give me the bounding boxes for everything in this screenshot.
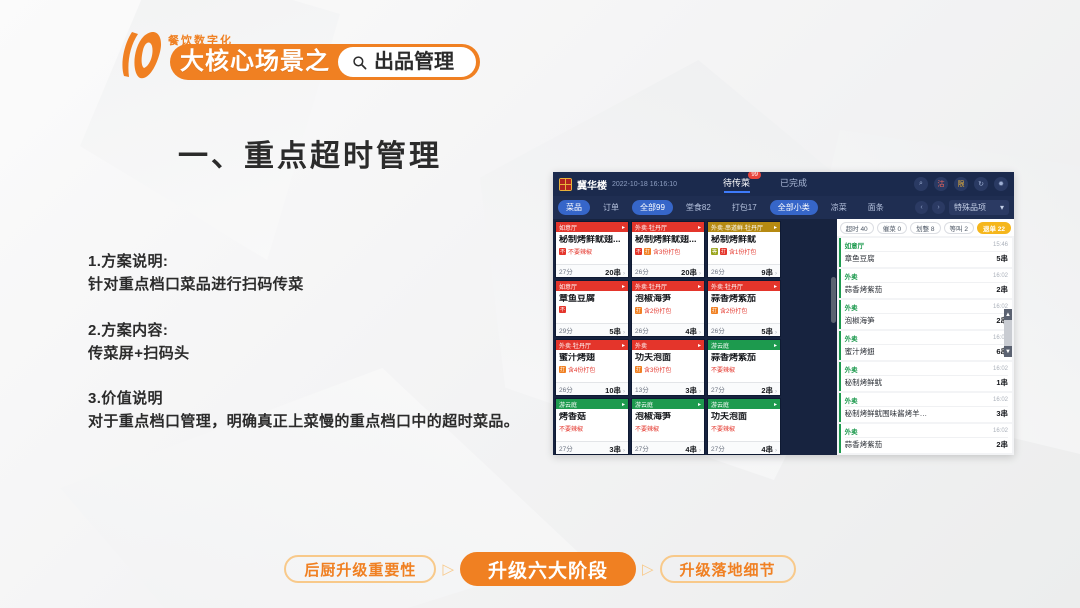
dish-card-elapsed: 26分 (635, 266, 649, 276)
dish-card[interactable]: 游云庭▸泡椒海笋不要辣椒27分4串› (631, 398, 705, 455)
order-row-bottom: 秘制烤鲜鱿1串 (845, 375, 1008, 388)
scroll-up-icon[interactable]: ▲ (1004, 309, 1012, 320)
dish-card-location: 外卖▸ (632, 340, 704, 350)
dish-card-elapsed: 27分 (559, 266, 573, 276)
order-quantity: 3串 (996, 408, 1008, 419)
dish-card-expand-icon[interactable]: ▸ (774, 283, 777, 290)
dish-card[interactable]: 外卖▸功夫泡面打含3份打包13分3串› (631, 339, 705, 396)
side-scrollbar[interactable]: ▲ ▼ (1004, 309, 1012, 357)
dish-card-location: 游云庭▸ (632, 399, 704, 409)
order-row[interactable]: 外卖16:02秘制烤鲜鱿1串 (839, 362, 1012, 391)
dish-card-expand-icon[interactable]: ▸ (774, 401, 777, 408)
dish-card-elapsed: 26分 (635, 325, 649, 335)
order-row-bottom: 泡椒海笋2串 (845, 313, 1008, 326)
dish-card-expand-icon[interactable]: ▸ (698, 283, 701, 290)
dish-card-expand-icon[interactable]: ▸ (622, 342, 625, 349)
order-row-bottom: 蒜香烤紫茄2串 (845, 282, 1008, 295)
dish-card-more-icon[interactable]: › (699, 389, 701, 395)
dish-card-more-icon[interactable]: › (775, 271, 777, 277)
pager-prev-icon[interactable]: ‹ (915, 201, 928, 214)
dish-card-expand-icon[interactable]: ▸ (774, 224, 777, 231)
copy-head: 2.方案内容: (88, 319, 528, 342)
dish-card-location: 游云庭▸ (708, 340, 780, 350)
dish-card-tags: 不打含3份打包 (635, 247, 701, 256)
logo-10-icon (110, 28, 168, 80)
dish-tag-icon: 等 (711, 248, 718, 255)
order-location: 外卖 (845, 333, 858, 343)
dish-card-more-icon[interactable]: › (699, 330, 701, 336)
dish-card-location-label: 如意厅 (559, 282, 577, 291)
dish-card-location: 外卖·串道鲜·牡丹厅▸ (708, 222, 780, 232)
dish-card-footer: 27分4串› (708, 441, 780, 454)
dish-card-tags: 打含2份打包 (635, 306, 701, 315)
order-row[interactable]: 外卖16:02秘制烤鲜鱿围味酱烤羊肉串3串 (839, 393, 1012, 422)
dish-tag-text: 不要辣椒 (568, 247, 592, 256)
order-dish-name: 泡椒海笋 (845, 315, 875, 326)
dish-card-name: 蒜香烤紫茄 (711, 353, 777, 363)
search-icon (352, 55, 367, 70)
dish-card-elapsed: 27分 (711, 443, 725, 453)
dish-card-expand-icon[interactable]: ▸ (698, 401, 701, 408)
dish-tag-icon: 打 (559, 366, 566, 373)
dish-card-quantity: 10串 (605, 386, 621, 395)
order-row-top: 外卖16:02 (845, 302, 1008, 312)
order-row-top: 外卖16:02 (845, 395, 1008, 405)
scroll-track[interactable] (1004, 320, 1012, 346)
dish-card-name: 烤香菇 (559, 412, 625, 422)
order-dish-name: 蜜汁烤翅 (845, 346, 875, 357)
dish-card-location-label: 外卖 (635, 341, 647, 350)
dish-card-quantity: 3串 (609, 445, 621, 454)
order-time: 15:46 (993, 242, 1008, 248)
pos-filter-dinein[interactable]: 堂食82 (678, 200, 719, 215)
dish-card-body: 蜜汁烤翅打含4份打包 (556, 350, 628, 382)
dish-card-more-icon[interactable]: › (699, 271, 701, 277)
dish-tag-icon: 打 (635, 307, 642, 314)
dish-card-more-icon[interactable]: › (623, 448, 625, 454)
nav-item-importance[interactable]: 后厨升级重要性 (284, 555, 436, 583)
dish-card-more-icon[interactable]: › (775, 389, 777, 395)
pos-side-filter-chips: 超时 40催菜 0划整 8等叫 2退单 22 (837, 219, 1014, 236)
dish-card-expand-icon[interactable]: ▸ (622, 224, 625, 231)
dish-card-elapsed: 27分 (559, 443, 573, 453)
dish-card-footer: 26分9串› (708, 264, 780, 277)
dish-tag-text: 含2份打包 (720, 306, 747, 315)
dish-card-tags: 不不要辣椒 (559, 247, 625, 256)
dish-card-location-label: 游云庭 (635, 400, 653, 409)
dish-card-elapsed: 26分 (559, 384, 573, 394)
dish-card-name: 秘制烤鲜鱿翅... (635, 235, 701, 245)
header-search-pill[interactable]: 出品管理 (338, 47, 476, 77)
dish-card-location: 游云庭▸ (708, 399, 780, 409)
pos-dish-grid: 如意厅▸秘制烤鲜鱿翅...不不要辣椒27分20串›外卖·牡丹厅▸秘制烤鲜鱿翅..… (553, 219, 837, 455)
dish-card-tags: 打含3份打包 (635, 365, 701, 374)
pos-side-panel: 超时 40催菜 0划整 8等叫 2退单 22 如意厅15:46章鱼豆腐5串外卖1… (837, 219, 1014, 455)
dish-card-location-label: 外卖·牡丹厅 (711, 282, 743, 291)
dish-card-tags: 不要辣椒 (711, 424, 777, 433)
dish-card-quantity: 20串 (681, 268, 697, 277)
pos-tab-pending-badge: 99 (748, 172, 761, 179)
dish-card[interactable]: 游云庭▸功夫泡面不要辣椒27分4串› (707, 398, 781, 455)
pos-special-items-value: 特殊品项 (954, 202, 986, 213)
dish-card-footer: 26分10串› (556, 382, 628, 395)
order-time: 16:02 (993, 428, 1008, 434)
order-row-bottom: 章鱼豆腐5串 (845, 251, 1008, 264)
pos-topbar: 冀华楼 2022-10-18 16:16:10 待传菜 99 已完成 ⌕ 沽 限… (553, 172, 1014, 196)
dish-card-name: 秘制烤鲜鱿翅... (559, 235, 625, 245)
dish-card-body: 功夫泡面不要辣椒 (708, 409, 780, 441)
dish-card-tags: 不要辣椒 (711, 365, 777, 374)
dish-card-name: 章鱼豆腐 (559, 294, 625, 304)
order-time: 16:02 (993, 273, 1008, 279)
dish-tag-icon: 不 (559, 306, 566, 313)
copy-body: 传菜屏+扫码头 (88, 342, 528, 365)
dish-card[interactable]: 外卖·牡丹厅▸蜜汁烤翅打含4份打包26分10串› (555, 339, 629, 396)
dish-card-elapsed: 26分 (711, 266, 725, 276)
pos-store-name: 冀华楼 (577, 177, 607, 192)
pos-filter-all[interactable]: 全部99 (632, 200, 673, 215)
order-row[interactable]: 外卖16:02蜜汁烤翅6串 (839, 331, 1012, 360)
order-quantity: 2串 (996, 439, 1008, 450)
order-location: 外卖 (845, 426, 858, 436)
dish-card-tags: 打含2份打包 (711, 306, 777, 315)
dish-card-tags: 打含4份打包 (559, 365, 625, 374)
pos-filter-noodles[interactable]: 面条 (860, 200, 892, 215)
order-row-top: 如意厅15:46 (845, 240, 1008, 250)
content-copy: 1.方案说明: 针对重点档口菜品进行扫码传菜 2.方案内容: 传菜屏+扫码头 3… (88, 250, 528, 456)
order-row-bottom: 秘制烤鲜鱿围味酱烤羊肉串3串 (845, 406, 1008, 419)
dish-card-body: 秘制烤鲜鱿翅...不不要辣椒 (556, 232, 628, 264)
header-main-text: 大核心场景之 (180, 50, 330, 74)
order-dish-name: 秘制烤鲜鱿 (845, 377, 883, 388)
dish-card-name: 蒜香烤紫茄 (711, 294, 777, 304)
dish-card-footer: 26分4串› (632, 323, 704, 336)
dish-card-expand-icon[interactable]: ▸ (622, 401, 625, 408)
pos-filter-takeout[interactable]: 打包17 (724, 200, 765, 215)
nav-item-details[interactable]: 升级落地细节 (660, 555, 796, 583)
dish-card-more-icon[interactable]: › (699, 448, 701, 454)
dish-card-location-label: 游云庭 (711, 400, 729, 409)
dish-tag-icon: 打 (720, 248, 727, 255)
dish-card-location-label: 游云庭 (559, 400, 577, 409)
order-quantity: 1串 (996, 377, 1008, 388)
dish-card-footer: 13分3串› (632, 382, 704, 395)
order-row-bottom: 蒜香烤紫茄2串 (845, 437, 1008, 450)
dish-card-footer: 29分5串› (556, 323, 628, 336)
dish-card-location-label: 外卖·牡丹厅 (635, 282, 667, 291)
dish-tag-icon: 不 (635, 248, 642, 255)
dish-card-quantity: 9串 (761, 268, 773, 277)
dish-card-footer: 27分3串› (556, 441, 628, 454)
dish-card-expand-icon[interactable]: ▸ (622, 283, 625, 290)
pos-filter-orders[interactable]: 订单 (595, 200, 627, 215)
side-filter-chip[interactable]: 超时 40 (840, 222, 874, 234)
chevron-down-icon: ▾ (1000, 203, 1004, 212)
dish-card-more-icon[interactable]: › (623, 389, 625, 395)
settings-icon[interactable]: ✹ (994, 177, 1008, 191)
dish-card[interactable]: 外卖·牡丹厅▸蒜香烤紫茄打含2份打包26分5串› (707, 280, 781, 337)
dish-card-tags: 不要辣椒 (559, 424, 625, 433)
order-row-top: 外卖16:02 (845, 364, 1008, 374)
dish-card-elapsed: 26分 (711, 325, 725, 335)
dish-card-elapsed: 13分 (635, 384, 649, 394)
dish-card-location: 如意厅▸ (556, 281, 628, 291)
dish-card-more-icon[interactable]: › (775, 330, 777, 336)
pos-datetime: 2022-10-18 16:16:10 (612, 181, 677, 188)
dish-card[interactable]: 外卖·串道鲜·牡丹厅▸秘制烤鲜鱿等打含1份打包26分9串› (707, 221, 781, 278)
dish-card-location: 外卖·牡丹厅▸ (708, 281, 780, 291)
dish-card-location: 外卖·牡丹厅▸ (556, 340, 628, 350)
order-dish-name: 蒜香烤紫茄 (845, 284, 883, 295)
dish-card-body: 功夫泡面打含3份打包 (632, 350, 704, 382)
grid-icon[interactable]: 限 (954, 177, 968, 191)
dish-card-quantity: 4串 (761, 445, 773, 454)
nav-item-six-stages[interactable]: 升级六大阶段 (460, 552, 636, 586)
dish-card-quantity: 2串 (761, 386, 773, 395)
header-badge-bar: 大核心场景之 出品管理 (170, 44, 480, 80)
dish-card-name: 功夫泡面 (711, 412, 777, 422)
dish-card-name: 秘制烤鲜鱿 (711, 235, 777, 245)
order-row[interactable]: 外卖16:02蒜香烤紫茄2串 (839, 424, 1012, 453)
dish-tag-text: 含3份打包 (653, 247, 680, 256)
bottom-navigation: 后厨升级重要性 ▷ 升级六大阶段 ▷ 升级落地细节 (0, 552, 1080, 586)
dish-card-body: 泡椒海笋不要辣椒 (632, 409, 704, 441)
order-row-bottom: 蜜汁烤翅6串 (845, 344, 1008, 357)
dish-card-location-label: 如意厅 (559, 223, 577, 232)
pos-tab-pending[interactable]: 待传菜 99 (723, 176, 750, 192)
order-row[interactable]: 外卖16:02泡椒海笋2串 (839, 300, 1012, 329)
refresh-icon[interactable]: ↻ (974, 177, 988, 191)
dish-card-more-icon[interactable]: › (623, 271, 625, 277)
page-title: 一、重点超时管理 (178, 131, 442, 175)
dish-card-body: 章鱼豆腐不 (556, 291, 628, 323)
order-dish-name: 秘制烤鲜鱿围味酱烤羊肉串 (845, 408, 929, 419)
dish-tag-text: 含3份打包 (644, 365, 671, 374)
order-location: 外卖 (845, 271, 858, 281)
side-filter-chip[interactable]: 催菜 0 (877, 222, 907, 234)
order-quantity: 5串 (996, 253, 1008, 264)
header-badge: 大核心场景之 出品管理 (110, 28, 480, 80)
dish-card-location-label: 外卖·牡丹厅 (635, 223, 667, 232)
order-time: 16:02 (993, 397, 1008, 403)
dish-card-body: 秘制烤鲜鱿等打含1份打包 (708, 232, 780, 264)
dish-tag-icon: 打 (711, 307, 718, 314)
scroll-down-icon[interactable]: ▼ (1004, 346, 1012, 357)
header-subtitle: 餐饮数字化 (168, 32, 233, 48)
pos-filter-dishes[interactable]: 菜品 (558, 200, 590, 215)
dish-card-location: 外卖·牡丹厅▸ (632, 222, 704, 232)
pos-tab-completed-label: 已完成 (780, 178, 807, 188)
pos-tab-pending-label: 待传菜 (723, 178, 750, 188)
pos-body: 如意厅▸秘制烤鲜鱿翅...不不要辣椒27分20串›外卖·牡丹厅▸秘制烤鲜鱿翅..… (553, 219, 1014, 455)
copy-body: 对于重点档口管理，明确真正上菜慢的重点档口中的超时菜品。 (88, 410, 528, 433)
dish-card-body: 秘制烤鲜鱿翅...不打含3份打包 (632, 232, 704, 264)
dish-card-name: 功夫泡面 (635, 353, 701, 363)
pos-filter-all-subcat[interactable]: 全部小类 (770, 200, 818, 215)
dish-card-elapsed: 27分 (635, 443, 649, 453)
copy-block: 1.方案说明: 针对重点档口菜品进行扫码传菜 (88, 250, 528, 297)
copy-block: 3.价值说明 对于重点档口管理，明确真正上菜慢的重点档口中的超时菜品。 (88, 387, 528, 434)
nav-arrow-icon: ▷ (642, 562, 654, 577)
dish-card-tags: 不 (559, 306, 625, 313)
search-icon[interactable]: ⌕ (914, 177, 928, 191)
order-row[interactable]: 外卖16:02蒜香烤紫茄2串 (839, 269, 1012, 298)
dish-card[interactable]: 外卖·牡丹厅▸秘制烤鲜鱿翅...不打含3份打包26分20串› (631, 221, 705, 278)
dish-tag-text: 含4份打包 (568, 365, 595, 374)
grid-scrollbar[interactable] (831, 277, 836, 323)
pos-special-items-select[interactable]: 特殊品项 ▾ (949, 200, 1009, 215)
order-time: 16:02 (993, 366, 1008, 372)
pos-tab-completed[interactable]: 已完成 (780, 176, 807, 192)
side-filter-chip[interactable]: 划整 8 (910, 222, 940, 234)
dish-card-tags: 等打含1份打包 (711, 247, 777, 256)
order-row-top: 外卖16:02 (845, 333, 1008, 343)
dish-card-quantity: 20串 (605, 268, 621, 277)
order-dish-name: 蒜香烤紫茄 (845, 439, 883, 450)
order-location: 外卖 (845, 364, 858, 374)
order-location: 外卖 (845, 302, 858, 312)
header-pill-text: 出品管理 (374, 52, 454, 72)
dish-tag-text: 含1份打包 (729, 247, 756, 256)
dish-card-name: 蜜汁烤翅 (559, 353, 625, 363)
dish-tag-icon: 不 (559, 248, 566, 255)
dish-card-elapsed: 27分 (711, 384, 725, 394)
dish-card-name: 泡椒海笋 (635, 294, 701, 304)
dish-card-footer: 27分4串› (632, 441, 704, 454)
dish-card-body: 泡椒海笋打含2份打包 (632, 291, 704, 323)
pos-topbar-icons: ⌕ 沽 限 ↻ ✹ (914, 177, 1008, 191)
dish-card-location-label: 外卖·串道鲜·牡丹厅 (711, 223, 763, 232)
dish-card-expand-icon[interactable]: ▸ (698, 224, 701, 231)
dish-card-tags: 不要辣椒 (635, 424, 701, 433)
dish-card-body: 蒜香烤紫茄不要辣椒 (708, 350, 780, 382)
pos-order-list: 如意厅15:46章鱼豆腐5串外卖16:02蒜香烤紫茄2串外卖16:02泡椒海笋2… (837, 236, 1014, 455)
pos-main-tabs: 待传菜 99 已完成 (723, 176, 807, 192)
dish-card[interactable]: 游云庭▸烤香菇不要辣椒27分3串› (555, 398, 629, 455)
dish-card-body: 蒜香烤紫茄打含2份打包 (708, 291, 780, 323)
dish-tag-text: 含2份打包 (644, 306, 671, 315)
copy-head: 1.方案说明: (88, 250, 528, 273)
dish-card-footer: 27分2串› (708, 382, 780, 395)
dish-card-footer: 26分20串› (632, 264, 704, 277)
dish-card-more-icon[interactable]: › (775, 448, 777, 454)
dish-tag-text: 不要辣椒 (711, 365, 735, 374)
order-row-top: 外卖16:02 (845, 426, 1008, 436)
dish-card-name: 泡椒海笋 (635, 412, 701, 422)
dish-card-quantity: 5串 (609, 327, 621, 336)
dish-card[interactable]: 如意厅▸秘制烤鲜鱿翅...不不要辣椒27分20串› (555, 221, 629, 278)
pos-screenshot: 冀华楼 2022-10-18 16:16:10 待传菜 99 已完成 ⌕ 沽 限… (553, 172, 1014, 455)
dish-tag-text: 不要辣椒 (635, 424, 659, 433)
dish-tag-icon: 打 (644, 248, 651, 255)
dish-card-quantity: 3串 (685, 386, 697, 395)
dish-card-more-icon[interactable]: › (623, 330, 625, 336)
dish-card-location-label: 游云庭 (711, 341, 729, 350)
dish-card-location-label: 外卖·牡丹厅 (559, 341, 591, 350)
dish-card[interactable]: 如意厅▸章鱼豆腐不29分5串› (555, 280, 629, 337)
dish-card[interactable]: 外卖·牡丹厅▸泡椒海笋打含2份打包26分4串› (631, 280, 705, 337)
dish-card[interactable]: 游云庭▸蒜香烤紫茄不要辣椒27分2串› (707, 339, 781, 396)
dish-card-footer: 26分5串› (708, 323, 780, 336)
order-dish-name: 章鱼豆腐 (845, 253, 875, 264)
dish-card-location: 游云庭▸ (556, 399, 628, 409)
dish-card-quantity: 4串 (685, 445, 697, 454)
dish-tag-icon: 打 (635, 366, 642, 373)
order-location: 外卖 (845, 395, 858, 405)
restaurant-logo-icon (559, 178, 572, 191)
dish-card-body: 烤香菇不要辣椒 (556, 409, 628, 441)
order-location: 如意厅 (845, 240, 865, 250)
dish-tag-text: 不要辣椒 (559, 424, 583, 433)
order-row-top: 外卖16:02 (845, 271, 1008, 281)
order-quantity: 2串 (996, 284, 1008, 295)
pager-next-icon[interactable]: › (932, 201, 945, 214)
dish-card-location: 外卖·牡丹厅▸ (632, 281, 704, 291)
side-filter-chip[interactable]: 等叫 2 (944, 222, 974, 234)
dish-card-expand-icon[interactable]: ▸ (774, 342, 777, 349)
nav-arrow-icon: ▷ (442, 562, 454, 577)
pos-filter-coldfood[interactable]: 凉菜 (823, 200, 855, 215)
pos-filter-bar: 菜品 订单 全部99 堂食82 打包17 全部小类 凉菜 面条 ‹ › 特殊品项… (553, 196, 1014, 219)
dish-tag-text: 不要辣椒 (711, 424, 735, 433)
dish-card-quantity: 4串 (685, 327, 697, 336)
dish-card-expand-icon[interactable]: ▸ (698, 342, 701, 349)
notice-icon[interactable]: 沽 (934, 177, 948, 191)
pos-pager: ‹ › 特殊品项 ▾ (915, 200, 1009, 215)
dish-card-location: 如意厅▸ (556, 222, 628, 232)
order-row[interactable]: 如意厅15:46章鱼豆腐5串 (839, 238, 1012, 267)
dish-card-footer: 27分20串› (556, 264, 628, 277)
copy-head: 3.价值说明 (88, 387, 528, 410)
copy-block: 2.方案内容: 传菜屏+扫码头 (88, 319, 528, 366)
side-filter-chip[interactable]: 退单 22 (977, 222, 1011, 234)
dish-card-quantity: 5串 (761, 327, 773, 336)
copy-body: 针对重点档口菜品进行扫码传菜 (88, 273, 528, 296)
dish-card-elapsed: 29分 (559, 325, 573, 335)
